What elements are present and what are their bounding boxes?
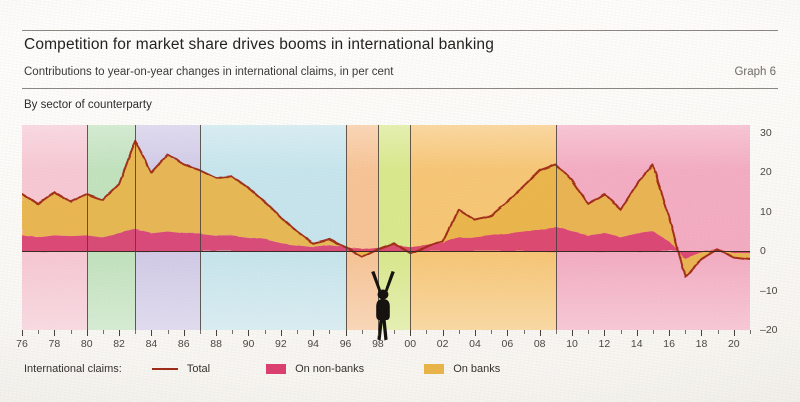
divider-line xyxy=(200,125,201,330)
page-subtitle: Contributions to year-on-year changes in… xyxy=(24,66,393,78)
x-axis-tick xyxy=(184,330,185,336)
x-axis-tick xyxy=(216,330,217,336)
panel-title: By sector of counterparty xyxy=(24,99,152,111)
x-axis-minor-tick xyxy=(297,330,298,334)
x-axis-tick-label: 16 xyxy=(663,338,675,350)
x-axis-tick xyxy=(313,330,314,336)
x-axis-tick xyxy=(87,330,88,336)
x-axis-tick xyxy=(540,330,541,336)
divider-line xyxy=(135,125,136,330)
x-axis-tick-label: 94 xyxy=(307,338,319,350)
y-axis-tick-label: 20 xyxy=(760,166,772,178)
x-axis-tick-label: 88 xyxy=(210,338,222,350)
x-axis-tick xyxy=(734,330,735,336)
x-axis-tick-label: 98 xyxy=(372,338,384,350)
divider-line xyxy=(556,125,557,330)
x-axis-minor-tick xyxy=(718,330,719,334)
x-axis-tick xyxy=(281,330,282,336)
x-axis-minor-tick xyxy=(653,330,654,334)
x-axis-minor-tick xyxy=(200,330,201,334)
x-axis-tick-label: 02 xyxy=(437,338,449,350)
y-axis-tick-label: –20 xyxy=(760,324,778,336)
y-axis-tick-label: –10 xyxy=(760,285,778,297)
legend-prefix: International claims: xyxy=(24,363,122,375)
x-axis-tick-label: 96 xyxy=(340,338,352,350)
x-axis-tick-label: 82 xyxy=(113,338,125,350)
x-axis-tick xyxy=(378,330,379,336)
x-axis-minor-tick xyxy=(491,330,492,334)
x-axis-minor-tick xyxy=(621,330,622,334)
x-axis-tick-label: 86 xyxy=(178,338,190,350)
legend-line-marker xyxy=(152,368,178,370)
x-axis-tick-label: 76 xyxy=(16,338,28,350)
legend-item: Total xyxy=(152,363,210,375)
x-axis-minor-tick xyxy=(556,330,557,334)
x-axis-tick-label: 78 xyxy=(49,338,61,350)
page-title: Competition for market share drives boom… xyxy=(24,36,494,54)
x-axis-minor-tick xyxy=(135,330,136,334)
x-axis-tick xyxy=(410,330,411,336)
x-axis-tick xyxy=(151,330,152,336)
chart-legend: International claims: TotalOn non-banksO… xyxy=(24,358,500,380)
graph-number-label: Graph 6 xyxy=(734,66,776,78)
legend-color-swatch xyxy=(266,364,286,374)
x-axis-minor-tick xyxy=(168,330,169,334)
divider-line xyxy=(346,125,347,330)
x-axis-tick xyxy=(475,330,476,336)
x-axis-tick xyxy=(346,330,347,336)
x-axis: 7678808284868890929496980002040608101214… xyxy=(22,330,750,360)
x-axis-tick xyxy=(507,330,508,336)
x-axis-tick xyxy=(604,330,605,336)
x-axis-minor-tick xyxy=(71,330,72,334)
legend-item-label: On non-banks xyxy=(295,363,364,375)
legend-item: On banks xyxy=(424,363,500,375)
x-axis-minor-tick xyxy=(394,330,395,334)
y-axis-tick-label: 0 xyxy=(760,245,766,257)
divider-line xyxy=(87,125,88,330)
legend-color-swatch xyxy=(424,364,444,374)
y-axis-tick-label: 30 xyxy=(760,127,772,139)
x-axis-minor-tick xyxy=(459,330,460,334)
x-axis-tick xyxy=(22,330,23,336)
x-axis-minor-tick xyxy=(103,330,104,334)
x-axis-tick-label: 90 xyxy=(243,338,255,350)
x-axis-tick-label: 04 xyxy=(469,338,481,350)
x-axis-minor-tick xyxy=(232,330,233,334)
x-axis-tick xyxy=(669,330,670,336)
x-axis-tick-label: 12 xyxy=(599,338,611,350)
x-axis-minor-tick xyxy=(524,330,525,334)
x-axis-minor-tick xyxy=(265,330,266,334)
x-axis-tick-label: 10 xyxy=(566,338,578,350)
legend-item-label: On banks xyxy=(453,363,500,375)
header-top-rule xyxy=(22,30,778,31)
x-axis-tick xyxy=(248,330,249,336)
x-axis-tick-label: 18 xyxy=(696,338,708,350)
x-axis-tick-label: 92 xyxy=(275,338,287,350)
x-axis-tick-label: 14 xyxy=(631,338,643,350)
x-axis-tick-label: 00 xyxy=(404,338,416,350)
header-bottom-rule xyxy=(22,88,778,89)
x-axis-minor-tick xyxy=(588,330,589,334)
x-axis-tick xyxy=(443,330,444,336)
x-axis-minor-tick xyxy=(329,330,330,334)
x-axis-tick xyxy=(54,330,55,336)
x-axis-minor-tick xyxy=(685,330,686,334)
x-axis-tick xyxy=(637,330,638,336)
x-axis-minor-tick xyxy=(38,330,39,334)
x-axis-minor-tick xyxy=(426,330,427,334)
legend-item-label: Total xyxy=(187,363,210,375)
x-axis-tick xyxy=(701,330,702,336)
x-axis-tick-label: 08 xyxy=(534,338,546,350)
x-axis-tick-label: 20 xyxy=(728,338,740,350)
y-axis-tick-label: 10 xyxy=(760,206,772,218)
x-axis-tick-label: 80 xyxy=(81,338,93,350)
x-axis-tick xyxy=(119,330,120,336)
divider-line xyxy=(410,125,411,330)
x-axis-tick-label: 84 xyxy=(146,338,158,350)
legend-item: On non-banks xyxy=(266,363,364,375)
y-axis: 3020100–10–20 xyxy=(752,125,798,340)
x-axis-minor-tick xyxy=(362,330,363,334)
x-axis-tick xyxy=(572,330,573,336)
x-axis-tick-label: 06 xyxy=(501,338,513,350)
x-axis-minor-tick xyxy=(750,330,751,334)
